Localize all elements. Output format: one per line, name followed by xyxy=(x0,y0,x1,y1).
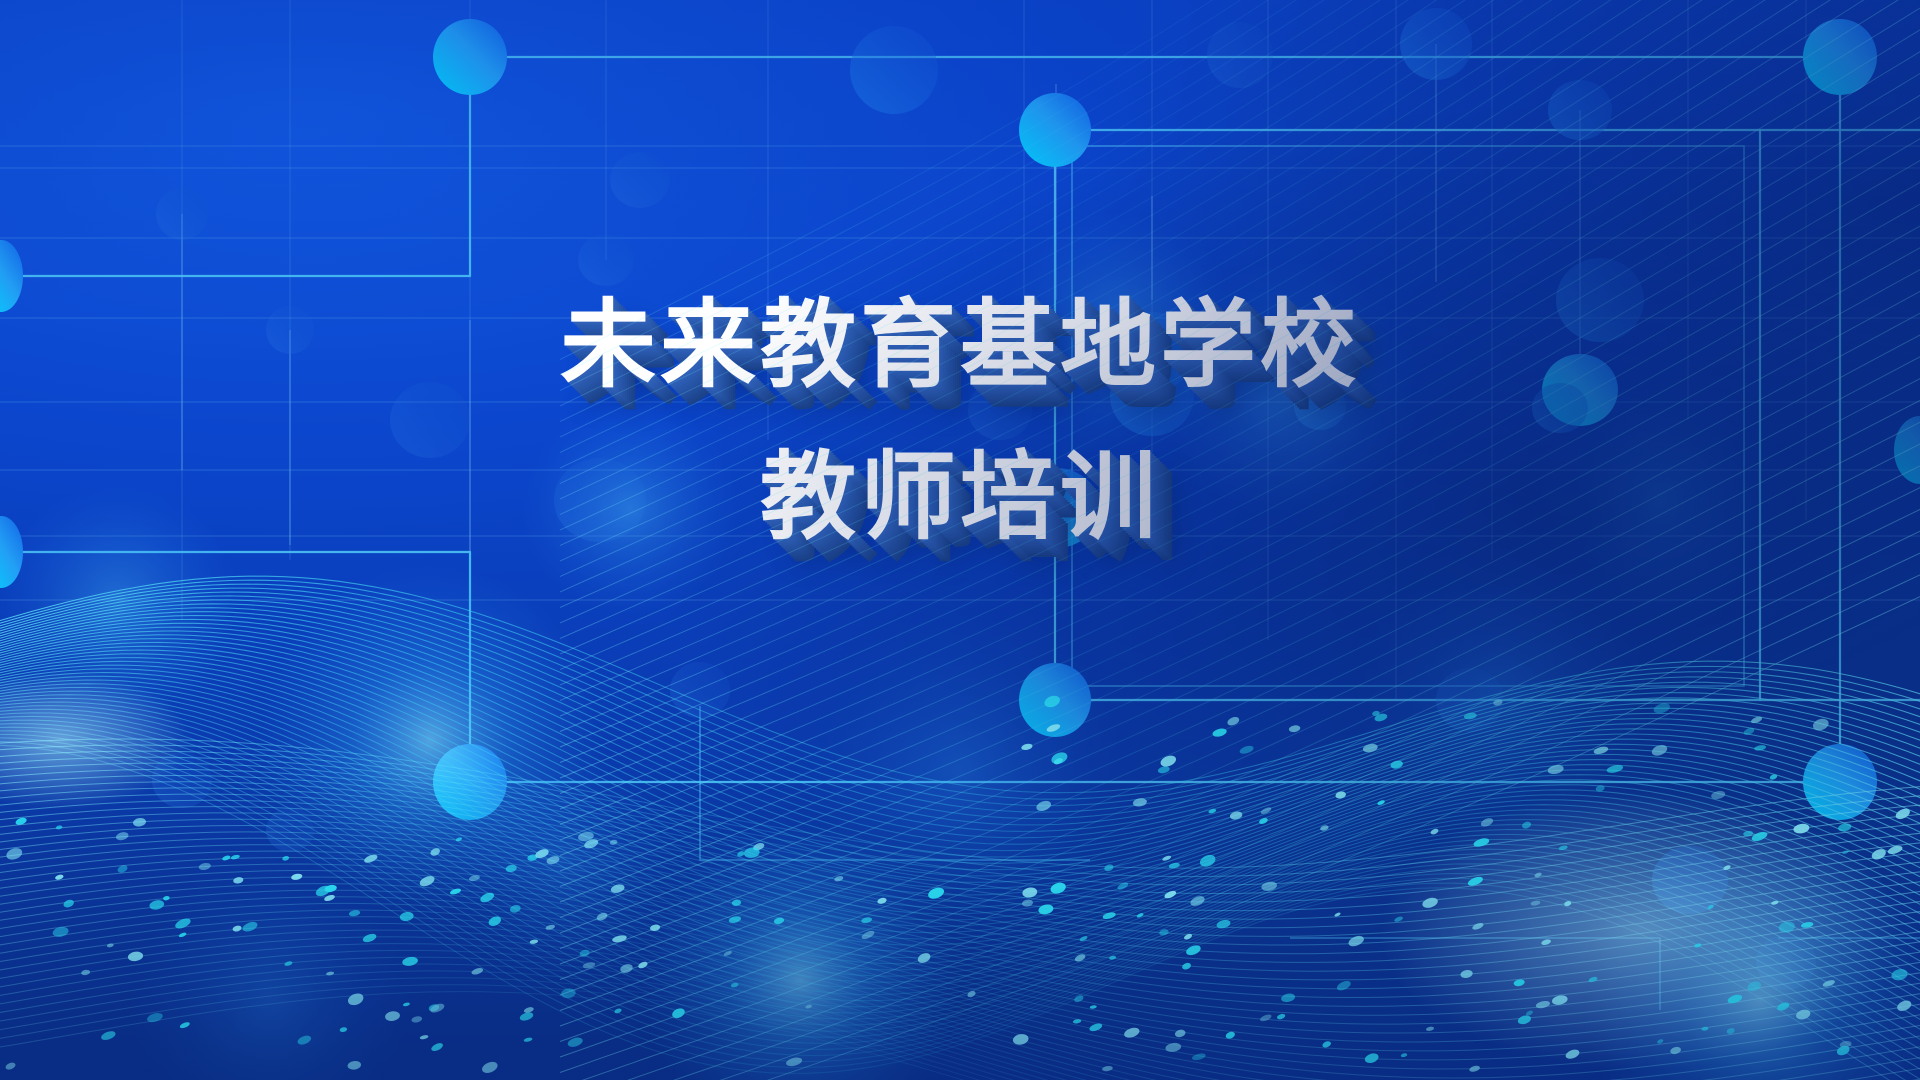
background-vignette xyxy=(0,0,1920,1080)
title-slide: 未来教育基地学校 教师培训 xyxy=(0,0,1920,1080)
